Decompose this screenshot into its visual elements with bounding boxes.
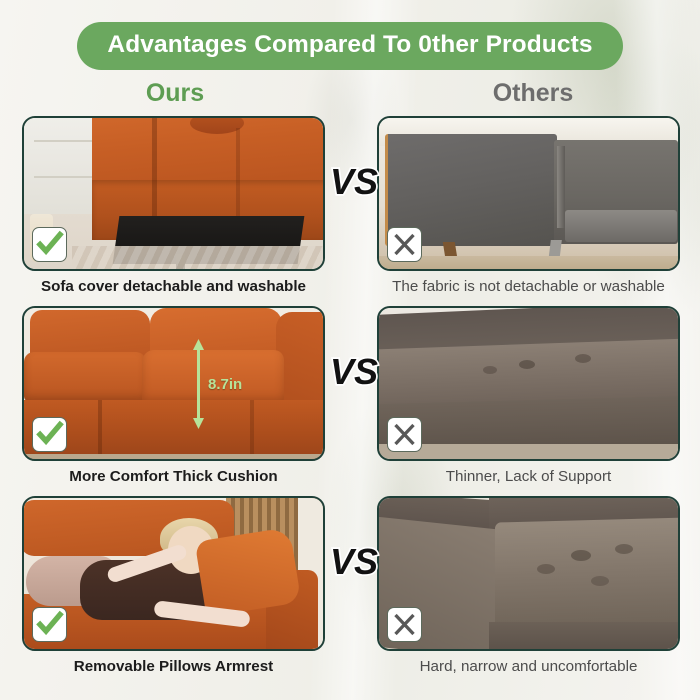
ours-image-panel (22, 496, 325, 651)
column-heading-others: Others (443, 79, 623, 108)
cross-badge (387, 417, 422, 452)
others-image-panel (377, 496, 680, 651)
others-caption: Hard, narrow and uncomfortable (377, 656, 680, 679)
ours-caption: Sofa cover detachable and washable (22, 276, 325, 299)
others-caption: Thinner, Lack of Support (377, 466, 680, 489)
ours-product-photo (24, 498, 323, 649)
ours-product-photo (24, 118, 323, 269)
comparison-rows: VS Sofa cover detachable and washable Th… (0, 116, 700, 686)
others-caption: The fabric is not detachable or washable (377, 276, 680, 299)
comparison-row: VS Removable Pillows Armrest Hard, narro… (0, 496, 700, 686)
ours-image-panel (22, 116, 325, 271)
vs-label: VS (330, 161, 378, 202)
vs-marker: VS (327, 160, 381, 204)
others-image-panel: 3.9in (377, 306, 680, 461)
close-icon (392, 612, 417, 637)
comparison-row: 8.7in VS (0, 306, 700, 496)
vs-label: VS (330, 541, 378, 582)
close-icon (392, 232, 417, 257)
vs-marker: VS (327, 350, 381, 394)
comparison-infographic: Advantages Compared To 0ther Products Ou… (0, 0, 700, 700)
ours-measurement-label: 8.7in (208, 376, 242, 393)
ours-caption: More Comfort Thick Cushion (22, 466, 325, 489)
ours-product-photo (24, 308, 323, 459)
others-product-photo (379, 308, 678, 459)
column-headings: Ours Others (0, 79, 700, 113)
check-badge (32, 607, 67, 642)
cross-badge (387, 227, 422, 262)
others-product-photo (379, 118, 678, 269)
vs-label: VS (330, 351, 378, 392)
close-icon (392, 422, 417, 447)
check-badge (32, 417, 67, 452)
check-icon (37, 422, 62, 447)
ours-caption: Removable Pillows Armrest (22, 656, 325, 679)
vs-marker: VS (327, 540, 381, 584)
ours-image-panel: 8.7in (22, 306, 325, 461)
check-icon (37, 612, 62, 637)
comparison-row: VS Sofa cover detachable and washable Th… (0, 116, 700, 306)
others-image-panel (377, 116, 680, 271)
header: Advantages Compared To 0ther Products (0, 22, 700, 70)
measurement-arrow-icon (192, 338, 205, 430)
others-product-photo (379, 498, 678, 649)
ours-measurement: 8.7in (192, 338, 242, 430)
column-heading-ours: Ours (85, 79, 265, 108)
check-icon (37, 232, 62, 257)
cross-badge (387, 607, 422, 642)
page-title: Advantages Compared To 0ther Products (77, 22, 622, 70)
check-badge (32, 227, 67, 262)
